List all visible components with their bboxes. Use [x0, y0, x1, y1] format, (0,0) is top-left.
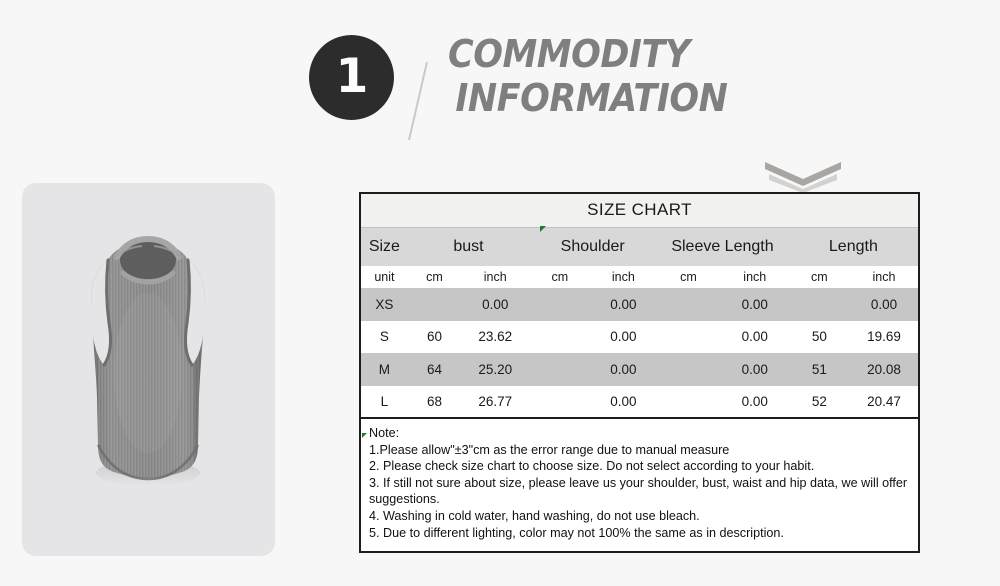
page-root: 1 COMMODITY INFORMATION: [0, 0, 1000, 586]
size-chart-note-row: Note: 1.Please allow"±3"cm as the error …: [361, 418, 918, 545]
unit-bust-inch: inch: [461, 266, 529, 288]
size-chart-note-cell: Note: 1.Please allow"±3"cm as the error …: [361, 418, 918, 545]
note-line-5: 5. Due to different lighting, color may …: [369, 525, 918, 542]
cell-shoulder-inch: 0.00: [590, 288, 656, 321]
cell-sleeve-inch: 0.00: [721, 288, 789, 321]
cell-shoulder-cm: [529, 353, 590, 386]
header-length: Length: [789, 227, 918, 266]
cell-shoulder-inch: 0.00: [590, 321, 656, 354]
size-chart-title-row: SIZE CHART: [361, 194, 918, 227]
cell-bust-inch: 0.00: [461, 288, 529, 321]
size-chart-unit-row: unit cm inch cm inch cm inch cm inch: [361, 266, 918, 288]
note-line-4: 4. Washing in cold water, hand washing, …: [369, 508, 918, 525]
cell-sleeve-inch: 0.00: [721, 353, 789, 386]
table-row: S 60 23.62 0.00 0.00 50 19.69: [361, 321, 918, 354]
header-bust: bust: [408, 227, 529, 266]
cell-length-inch: 0.00: [850, 288, 918, 321]
cell-size: L: [361, 386, 408, 419]
slash-divider: [408, 62, 428, 140]
size-chart-table: SIZE CHART Size bust Shoulder Sleeve Len…: [361, 194, 918, 545]
cell-sleeve-inch: 0.00: [721, 321, 789, 354]
cell-length-cm: 50: [789, 321, 850, 354]
step-number-label: 1: [336, 53, 368, 100]
cell-sleeve-cm: [656, 321, 721, 354]
unit-shoulder-cm: cm: [529, 266, 590, 288]
page-title-line-2: INFORMATION: [448, 76, 742, 120]
cell-shoulder-inch: 0.00: [590, 353, 656, 386]
cell-size: S: [361, 321, 408, 354]
cell-bust-cm: 60: [408, 321, 461, 354]
cell-shoulder-cm: [529, 321, 590, 354]
note-line-2: 2. Please check size chart to choose siz…: [369, 458, 918, 475]
comment-marker-icon: [540, 226, 546, 232]
header-sleeve-length: Sleeve Length: [656, 227, 789, 266]
cell-bust-inch: 26.77: [461, 386, 529, 419]
unit-length-inch: inch: [850, 266, 918, 288]
unit-sleeve-cm: cm: [656, 266, 721, 288]
cell-bust-cm: 68: [408, 386, 461, 419]
double-chevron-down-icon: [763, 161, 843, 193]
cell-sleeve-cm: [656, 386, 721, 419]
cell-sleeve-inch: 0.00: [721, 386, 789, 419]
size-chart-title: SIZE CHART: [361, 194, 918, 227]
cell-shoulder-cm: [529, 386, 590, 419]
cell-bust-inch: 23.62: [461, 321, 529, 354]
note-line-3: 3. If still not sure about size, please …: [369, 475, 918, 508]
unit-length-cm: cm: [789, 266, 850, 288]
note-line-1: 1.Please allow"±3"cm as the error range …: [369, 442, 918, 459]
cell-length-cm: 52: [789, 386, 850, 419]
step-number-badge: 1: [309, 35, 394, 120]
page-title-line-1: COMMODITY: [448, 32, 742, 76]
size-chart-header-row: Size bust Shoulder Sleeve Length Length: [361, 227, 918, 266]
unit-shoulder-inch: inch: [590, 266, 656, 288]
cell-shoulder-inch: 0.00: [590, 386, 656, 419]
page-title: COMMODITY INFORMATION: [448, 32, 742, 120]
cell-length-cm: [789, 288, 850, 321]
note-comment-marker-icon: [362, 433, 367, 438]
table-row: L 68 26.77 0.00 0.00 52 20.47: [361, 386, 918, 419]
table-row: XS 0.00 0.00 0.00 0.00: [361, 288, 918, 321]
cell-shoulder-cm: [529, 288, 590, 321]
cell-length-inch: 20.47: [850, 386, 918, 419]
cell-sleeve-cm: [656, 353, 721, 386]
cell-bust-cm: 64: [408, 353, 461, 386]
product-photo-tank-top: [22, 183, 275, 556]
cell-length-inch: 19.69: [850, 321, 918, 354]
cell-size: XS: [361, 288, 408, 321]
unit-sleeve-inch: inch: [721, 266, 789, 288]
table-row: M 64 25.20 0.00 0.00 51 20.08: [361, 353, 918, 386]
header-shoulder: Shoulder: [529, 227, 656, 266]
section-header: 1 COMMODITY INFORMATION: [300, 28, 770, 168]
note-heading: Note:: [369, 425, 918, 442]
unit-bust-cm: cm: [408, 266, 461, 288]
product-image-card: [22, 183, 275, 556]
cell-length-cm: 51: [789, 353, 850, 386]
header-size: Size: [361, 227, 408, 266]
size-chart-table-container: SIZE CHART Size bust Shoulder Sleeve Len…: [359, 192, 920, 553]
cell-sleeve-cm: [656, 288, 721, 321]
note-text-block: Note: 1.Please allow"±3"cm as the error …: [369, 425, 918, 541]
cell-bust-inch: 25.20: [461, 353, 529, 386]
cell-size: M: [361, 353, 408, 386]
cell-length-inch: 20.08: [850, 353, 918, 386]
unit-label: unit: [361, 266, 408, 288]
cell-bust-cm: [408, 288, 461, 321]
